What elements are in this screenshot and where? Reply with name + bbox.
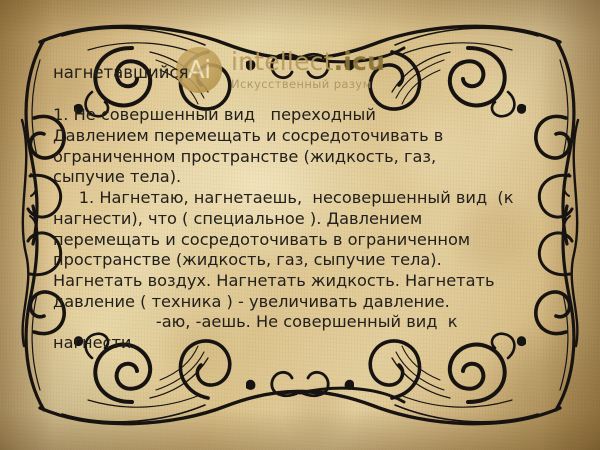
article-content: нагнетавшийся 1. Не совершенный вид пере… [53,62,553,354]
sense-2-text: 1. Нагнетаю, нагнетаешь, несовершенный в… [53,188,553,354]
dictionary-entry-page: Ai intellect.icu Искусственный разум наг… [0,0,600,450]
sense-1-text: 1. Не совершенный вид переходный Давлени… [53,105,553,188]
headword: нагнетавшийся [53,62,553,83]
